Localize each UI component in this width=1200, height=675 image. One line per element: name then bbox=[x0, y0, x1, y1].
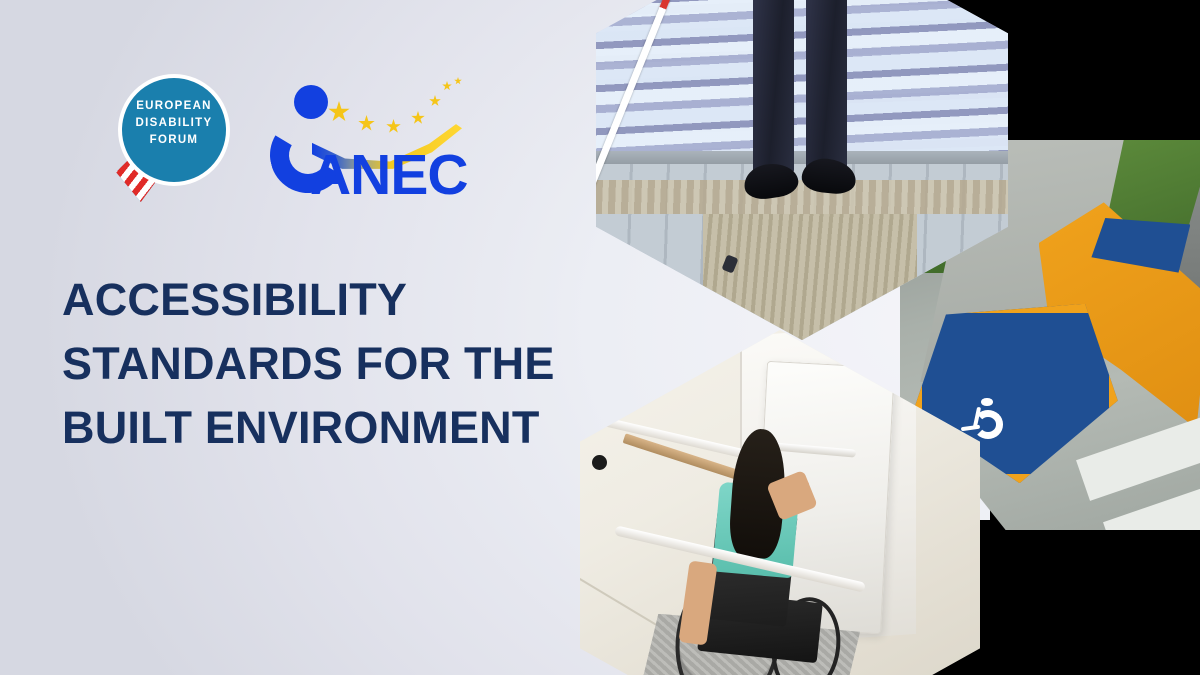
edf-line-1: EUROPEAN bbox=[136, 100, 212, 112]
page-title-line-3: BUILT ENVIRONMENT bbox=[62, 396, 602, 460]
logo-row: EUROPEAN DISABILITY FORUM ANEC bbox=[110, 72, 466, 212]
wheelchair-symbol-head bbox=[981, 398, 993, 406]
pedestrian-leg-right bbox=[806, 0, 847, 172]
eu-star-1-icon bbox=[328, 101, 350, 123]
eu-star-7-icon bbox=[454, 77, 462, 85]
eu-star-6-icon bbox=[442, 81, 452, 91]
pedestrian-leg-left bbox=[753, 0, 794, 172]
page-title-line-2: STANDARDS FOR THE bbox=[62, 332, 602, 396]
anec-figure-head bbox=[294, 85, 328, 119]
eu-star-4-icon bbox=[411, 111, 425, 125]
eu-star-5-icon bbox=[429, 95, 441, 107]
page-title-line-1: ACCESSIBILITY bbox=[62, 268, 602, 332]
edf-logo-text: EUROPEAN DISABILITY FORUM bbox=[126, 98, 222, 149]
european-disability-forum-logo: EUROPEAN DISABILITY FORUM bbox=[110, 72, 232, 212]
tactile-guidance-pad bbox=[703, 214, 917, 340]
edf-line-3: FORUM bbox=[150, 134, 199, 146]
slide-canvas: EUROPEAN DISABILITY FORUM ANEC ACCESSIBI… bbox=[0, 0, 1200, 675]
eu-star-2-icon bbox=[358, 115, 375, 132]
eu-star-3-icon bbox=[386, 119, 401, 134]
tactile-warning-strip bbox=[596, 180, 1008, 214]
edf-line-2: DISABILITY bbox=[136, 117, 213, 129]
anec-wordmark: ANEC bbox=[310, 147, 468, 204]
anec-logo: ANEC bbox=[266, 77, 466, 207]
page-title: ACCESSIBILITY STANDARDS FOR THE BUILT EN… bbox=[62, 268, 602, 460]
